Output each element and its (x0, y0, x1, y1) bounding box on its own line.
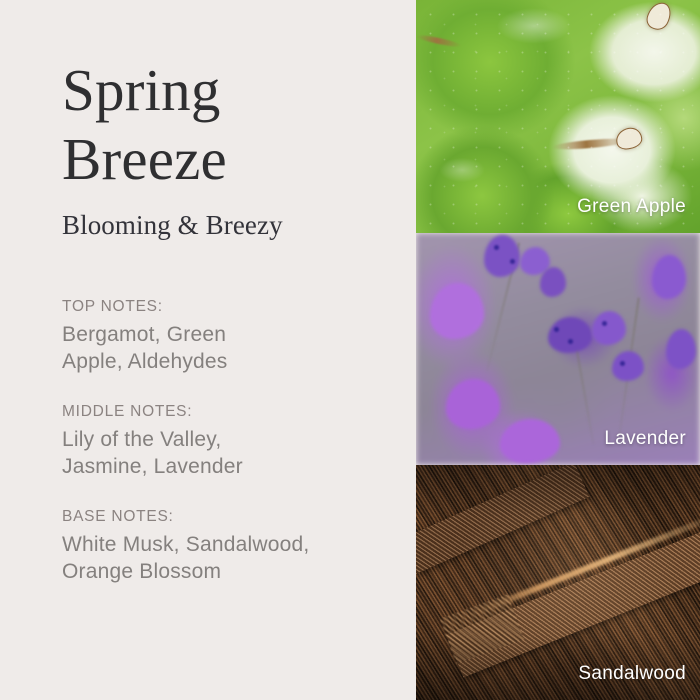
fragrance-notes-list: TOP NOTES: Bergamot, Green Apple, Aldehy… (62, 297, 402, 585)
top-notes-value: Bergamot, Green Apple, Aldehydes (62, 321, 402, 375)
caption-sandalwood: Sandalwood (578, 662, 686, 686)
ingredient-panel-sandalwood: Sandalwood (416, 465, 700, 700)
base-notes-label: BASE NOTES: (62, 507, 402, 527)
lavender-floret (554, 327, 559, 332)
ingredient-image-column: Green Apple Lavender (416, 0, 700, 700)
page-subtitle: Blooming & Breezy (62, 208, 392, 242)
lavender-bud (548, 317, 592, 353)
lavender-bud (652, 255, 686, 299)
lavender-floret (494, 245, 499, 250)
lavender-bud (612, 351, 644, 381)
note-group-middle: MIDDLE NOTES: Lily of the Valley, Jasmin… (62, 402, 402, 480)
middle-notes-label: MIDDLE NOTES: (62, 402, 402, 422)
lavender-bud (500, 419, 560, 463)
lavender-bud (430, 283, 484, 339)
caption-lavender: Lavender (604, 427, 686, 451)
lavender-bud (446, 379, 500, 429)
page-title: Spring Breeze (62, 56, 392, 194)
lavender-bud (666, 329, 696, 369)
lavender-floret (602, 321, 607, 326)
base-notes-value: White Musk, Sandalwood, Orange Blossom (62, 531, 402, 585)
lavender-floret (510, 259, 515, 264)
title-block: Spring Breeze Blooming & Breezy (62, 56, 392, 242)
top-notes-label: TOP NOTES: (62, 297, 402, 317)
fragrance-card: Spring Breeze Blooming & Breezy TOP NOTE… (0, 0, 700, 700)
lavender-bud (540, 267, 566, 297)
lavender-floret (568, 339, 573, 344)
ingredient-panel-lavender: Lavender (416, 233, 700, 465)
note-group-base: BASE NOTES: White Musk, Sandalwood, Oran… (62, 507, 402, 585)
lavender-bud (484, 235, 520, 277)
lavender-bud (592, 311, 626, 345)
lavender-floret (620, 361, 625, 366)
middle-notes-value: Lily of the Valley, Jasmine, Lavender (62, 426, 402, 480)
info-panel: Spring Breeze Blooming & Breezy TOP NOTE… (0, 0, 416, 700)
note-group-top: TOP NOTES: Bergamot, Green Apple, Aldehy… (62, 297, 402, 375)
caption-green-apple: Green Apple (577, 195, 686, 219)
ingredient-panel-green-apple: Green Apple (416, 0, 700, 233)
